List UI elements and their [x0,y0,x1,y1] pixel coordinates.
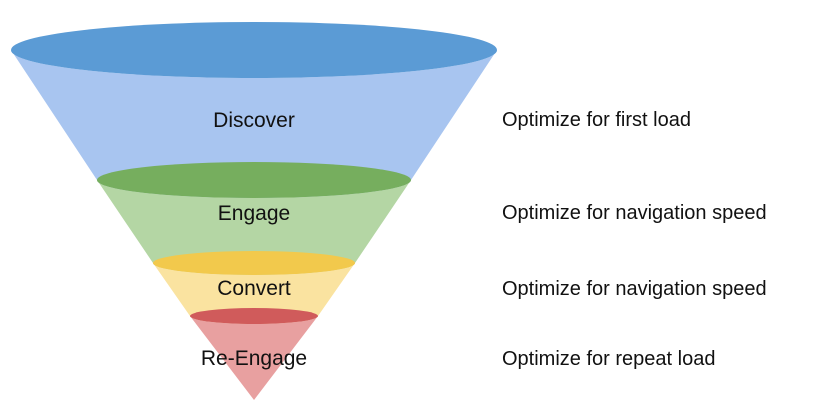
funnel-stage-re-engage [190,308,318,400]
annotation-discover: Optimize for first load [502,110,691,130]
stage-re-engage-top-ellipse [190,308,318,324]
stage-convert-top-ellipse [153,251,355,275]
annotation-engage: Optimize for navigation speed [502,203,767,223]
funnel-diagram: Discover Engage Convert Re-Engage Optimi… [0,0,837,417]
stage-discover-top-ellipse [11,22,497,78]
annotation-convert: Optimize for navigation speed [502,279,767,299]
stage-engage-top-ellipse [97,162,411,198]
annotation-re-engage: Optimize for repeat load [502,349,715,369]
stage-re-engage-body [190,316,318,400]
